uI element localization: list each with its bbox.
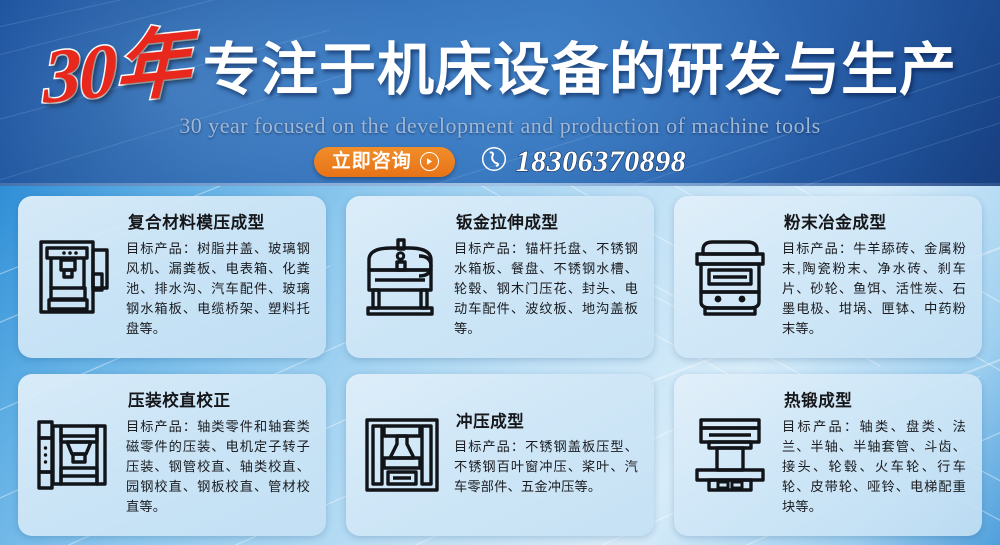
banner-content: 复合材料模压成型 目标产品：树脂井盖、玻璃钢风机、漏粪板、电表箱、化粪池、排水沟… xyxy=(0,186,1000,545)
card-description: 目标产品：树脂井盖、玻璃钢风机、漏粪板、电表箱、化粪池、排水沟、汽车配件、玻璃钢… xyxy=(126,239,310,339)
card-hot-forging[interactable]: 热锻成型 目标产品：轴类、盘类、法兰、半轴、半轴套管、斗齿、接头、轮毂、火车轮、… xyxy=(674,374,982,536)
card-powder-metallurgy[interactable]: 粉末冶金成型 目标产品：牛羊舔砖、金属粉末,陶瓷粉末、净水砖、刹车片、砂轮、鱼饵… xyxy=(674,196,982,358)
card-body: 粉末冶金成型 目标产品：牛羊舔砖、金属粉末,陶瓷粉末、净水砖、刹车片、砂轮、鱼饵… xyxy=(782,214,968,339)
card-description: 目标产品：轴类零件和轴套类磁零件的压装、电机定子转子压装、钢管校直、轴类校直、园… xyxy=(126,417,310,517)
stamping-press-icon xyxy=(354,407,450,503)
card-description: 目标产品：不锈钢盖板压型、不锈钢百叶窗冲压、桨叶、汽车零部件、五金冲压等。 xyxy=(454,437,638,497)
telephone-icon xyxy=(481,146,507,177)
phone-group[interactable]: 18306370898 xyxy=(481,146,687,177)
card-title: 粉末冶金成型 xyxy=(784,214,966,234)
card-body: 钣金拉伸成型 目标产品：锚杆托盘、不锈钢水箱板、餐盘、不锈钢水槽、轮毂、钢木门压… xyxy=(454,214,640,339)
phone-number: 18306370898 xyxy=(516,147,687,177)
header-title-row: 30年 专注于机床设备的研发与生产 xyxy=(0,30,1000,110)
capability-card-grid: 复合材料模压成型 目标产品：树脂井盖、玻璃钢风机、漏粪板、电表箱、化粪池、排水沟… xyxy=(18,196,982,536)
card-body: 压装校直校正 目标产品：轴类零件和轴套类磁零件的压装、电机定子转子压装、钢管校直… xyxy=(126,392,312,517)
card-stamping-forming[interactable]: 冲压成型 目标产品：不锈钢盖板压型、不锈钢百叶窗冲压、桨叶、汽车零部件、五金冲压… xyxy=(346,374,654,536)
hot-forging-press-icon xyxy=(682,407,778,503)
press-fit-straightening-machine-icon xyxy=(26,407,122,503)
sheet-metal-drawing-press-icon xyxy=(354,229,450,325)
card-press-fit-straightening[interactable]: 压装校直校正 目标产品：轴类零件和轴套类磁零件的压装、电机定子转子压装、钢管校直… xyxy=(18,374,326,536)
card-title: 压装校直校正 xyxy=(128,392,310,412)
page-title: 专注于机床设备的研发与生产 xyxy=(203,42,957,99)
card-compound-material-molding[interactable]: 复合材料模压成型 目标产品：树脂井盖、玻璃钢风机、漏粪板、电表箱、化粪池、排水沟… xyxy=(18,196,326,358)
card-title: 热锻成型 xyxy=(784,392,966,412)
header-subtitle-en: 30 year focused on the development and p… xyxy=(0,113,1000,139)
card-body: 热锻成型 目标产品：轴类、盘类、法兰、半轴、半轴套管、斗齿、接头、轮毂、火车轮、… xyxy=(782,392,968,517)
header-cta-row: 立即咨询 18306370898 xyxy=(0,146,1000,177)
card-title: 钣金拉伸成型 xyxy=(456,214,638,234)
card-description: 目标产品：轴类、盘类、法兰、半轴、半轴套管、斗齿、接头、轮毂、火车轮、行车轮、皮… xyxy=(782,417,966,517)
card-description: 目标产品：牛羊舔砖、金属粉末,陶瓷粉末、净水砖、刹车片、砂轮、鱼饵、活性炭、石墨… xyxy=(782,239,966,339)
promo-banner: 30年 专注于机床设备的研发与生产 30 year focused on the… xyxy=(0,0,1000,545)
compression-molding-machine-icon xyxy=(26,229,122,325)
card-body: 冲压成型 目标产品：不锈钢盖板压型、不锈钢百叶窗冲压、桨叶、汽车零部件、五金冲压… xyxy=(454,413,640,498)
card-title: 复合材料模压成型 xyxy=(128,214,310,234)
card-title: 冲压成型 xyxy=(456,413,638,433)
arrow-right-circle-icon xyxy=(420,152,439,171)
consult-button-label: 立即咨询 xyxy=(332,152,412,171)
years-badge: 30年 xyxy=(43,24,188,116)
powder-metallurgy-press-icon xyxy=(682,229,778,325)
consult-now-button[interactable]: 立即咨询 xyxy=(314,147,455,177)
banner-header: 30年 专注于机床设备的研发与生产 30 year focused on the… xyxy=(0,0,1000,186)
card-body: 复合材料模压成型 目标产品：树脂井盖、玻璃钢风机、漏粪板、电表箱、化粪池、排水沟… xyxy=(126,214,312,339)
card-sheet-metal-drawing[interactable]: 钣金拉伸成型 目标产品：锚杆托盘、不锈钢水箱板、餐盘、不锈钢水槽、轮毂、钢木门压… xyxy=(346,196,654,358)
card-description: 目标产品：锚杆托盘、不锈钢水箱板、餐盘、不锈钢水槽、轮毂、钢木门压花、封头、电动… xyxy=(454,239,638,339)
